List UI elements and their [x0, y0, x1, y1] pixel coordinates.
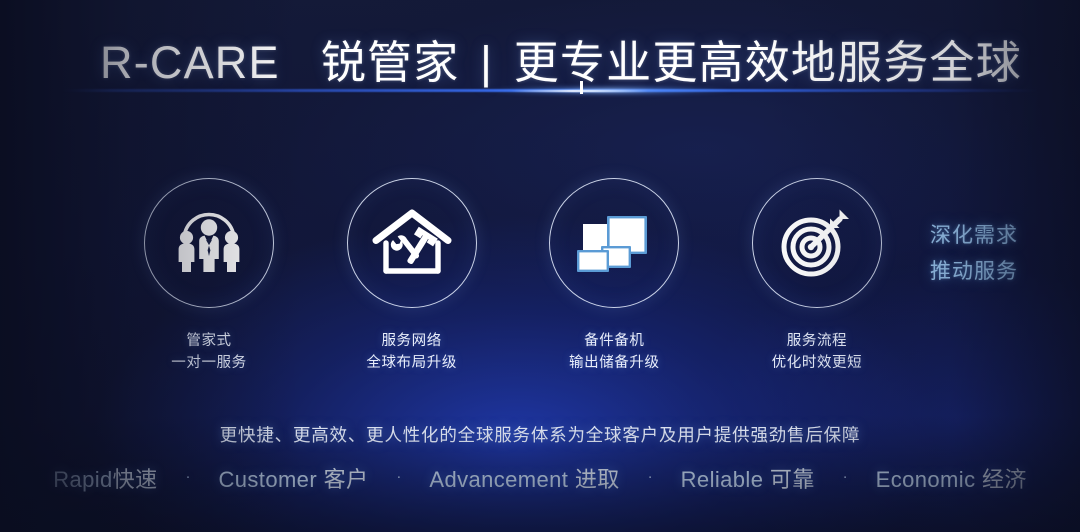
keyword-separator: · — [370, 468, 427, 489]
house-tools-icon — [372, 207, 452, 279]
divider-tick-mark — [580, 81, 583, 94]
target-arrow-icon — [778, 207, 856, 279]
feature-row: 管家式 一对一服务 — [128, 178, 898, 393]
keyword-cn: 经济 — [982, 467, 1027, 492]
keyword-rapid[interactable]: Rapid快速 — [51, 462, 159, 494]
feature-icon-circle — [347, 178, 477, 308]
feature-caption-line2: 全球布局升级 — [366, 352, 457, 374]
header: R-CARE 锐管家 | 更专业更高效地服务全球 — [0, 0, 1080, 96]
title-tagline-cn: 更专业更高效地服务全球 — [514, 37, 1022, 88]
keyword-en: Economic — [876, 467, 976, 492]
feature-caption: 服务流程 优化时效更短 — [772, 330, 863, 374]
title-brand-cn: 锐管家 — [321, 37, 460, 88]
keyword-separator: · — [159, 468, 216, 489]
keyword-en: Reliable — [681, 467, 764, 492]
header-divider — [62, 85, 1038, 97]
title-brand-en: R-CARE — [100, 37, 280, 88]
keyword-reliable[interactable]: Reliable 可靠 — [679, 462, 817, 494]
tagline: 更快捷、更高效、更人性化的全球服务体系为全球客户及用户提供强劲售后保障 — [0, 422, 1080, 447]
feature-icon-circle — [549, 178, 679, 308]
feature-caption: 管家式 一对一服务 — [171, 330, 247, 374]
keyword-cn: 客户 — [324, 467, 369, 492]
keyword-en: Advancement — [429, 467, 568, 492]
side-note-line1: 深化需求 — [910, 218, 1038, 254]
keyword-separator: · — [817, 468, 874, 489]
feature-icon-circle — [144, 178, 274, 308]
keyword-cn: 快速 — [113, 467, 158, 492]
keyword-en: Rapid — [53, 467, 112, 492]
feature-caption-line1: 服务流程 — [772, 330, 863, 352]
keyword-en: Customer — [218, 467, 317, 492]
keyword-cn: 进取 — [575, 467, 620, 492]
keyword-economic[interactable]: Economic 经济 — [874, 462, 1029, 494]
feature-caption-line1: 管家式 — [171, 330, 247, 352]
feature-item-service-process[interactable]: 服务流程 优化时效更短 — [736, 178, 898, 393]
feature-caption-line1: 备件备机 — [569, 330, 660, 352]
slide-canvas: R-CARE 锐管家 | 更专业更高效地服务全球 — [0, 0, 1080, 532]
keyword-advancement[interactable]: Advancement 进取 — [427, 462, 621, 494]
keyword-cn: 可靠 — [770, 467, 815, 492]
team-people-icon — [171, 210, 247, 276]
feature-caption-line1: 服务网络 — [366, 330, 457, 352]
feature-icon-circle — [752, 178, 882, 308]
feature-caption-line2: 输出储备升级 — [569, 352, 660, 374]
keyword-customer[interactable]: Customer 客户 — [216, 462, 370, 494]
feature-caption-line2: 一对一服务 — [171, 352, 247, 374]
keyword-row: Rapid快速 · Customer 客户 · Advancement 进取 ·… — [0, 462, 1080, 494]
side-note: 深化需求 推动服务 — [910, 218, 1038, 290]
feature-item-spare-parts[interactable]: 备件备机 输出储备升级 — [533, 178, 695, 393]
feature-item-service-network[interactable]: 服务网络 全球布局升级 — [331, 178, 493, 393]
feature-caption: 备件备机 输出储备升级 — [569, 330, 660, 374]
feature-caption-line2: 优化时效更短 — [772, 352, 863, 374]
page-title: R-CARE 锐管家 | 更专业更高效地服务全球 — [100, 26, 1022, 91]
side-note-line2: 推动服务 — [910, 254, 1038, 290]
title-separator: | — [473, 37, 500, 88]
keyword-separator: · — [622, 468, 679, 489]
devices-screens-icon — [573, 210, 655, 276]
feature-caption: 服务网络 全球布局升级 — [366, 330, 457, 374]
feature-item-butler-service[interactable]: 管家式 一对一服务 — [128, 178, 290, 393]
